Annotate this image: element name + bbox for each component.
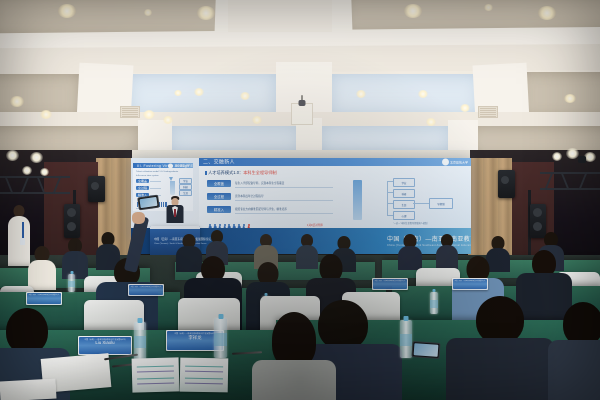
speaker-presenter <box>160 196 190 230</box>
ceiling-beam <box>138 120 172 152</box>
ceiling-coffer-lit <box>330 74 480 116</box>
stage-spotlight <box>30 152 43 163</box>
slide-chip: 全覆盖 <box>136 179 149 183</box>
attendee-foreground-long-hair <box>252 312 336 400</box>
placard-org: 中国（云南）—南亚东南亚教育合作发展国际论坛 <box>27 294 61 296</box>
attendee-foreground-far-right <box>548 302 600 400</box>
person-head <box>476 296 524 344</box>
recessed-downlight <box>10 96 24 107</box>
recessed-downlight <box>197 6 215 20</box>
ceiling-beam <box>329 0 353 46</box>
speaker-tie <box>174 209 176 217</box>
flow-side-arrow <box>353 180 362 220</box>
person-suit <box>446 338 554 400</box>
slide-figure-caption: 1对1结对导师 <box>307 223 323 227</box>
person-body <box>8 216 30 266</box>
attendee <box>62 238 88 278</box>
slide-note-line2: full-course tutor system <box>136 175 159 177</box>
badge <box>20 238 25 245</box>
slide-chip: 全过程 <box>136 186 149 190</box>
slide-header-bar: III. Fostering Virtue through Education … <box>133 163 193 168</box>
placard-face: 中国（云南）—南亚东南亚教育合作发展国际论坛 Liu Xiaolu <box>79 337 131 354</box>
spotlight-housing <box>578 156 586 163</box>
recessed-downlight <box>418 90 428 98</box>
ceiling-coffer <box>470 126 600 152</box>
ceiling-coffer-lit <box>320 126 450 152</box>
slide-chip-1-label: 全覆盖 <box>207 180 231 187</box>
flow-node-5: 导师制 <box>429 198 453 209</box>
name-placard-far: 中国（云南）—南亚东南亚教育合作发展国际论坛 <box>26 292 62 305</box>
recessed-downlight <box>144 9 152 16</box>
flow-node-3: 生涯 <box>393 200 415 209</box>
ceiling-beam <box>448 120 478 152</box>
placard-name: Liu Xiaolu <box>79 340 131 345</box>
stage-spotlight <box>40 168 49 176</box>
air-vent <box>120 106 140 118</box>
name-placard-far: 中国（云南）—南亚东南亚教育合作发展国际论坛 <box>452 278 488 290</box>
hand <box>132 212 145 224</box>
recessed-downlight <box>564 94 576 103</box>
ceiling-projector <box>291 103 313 125</box>
university-logo-main: 北京建筑大学 <box>442 159 468 166</box>
placard-org: 中国（云南）—南亚东南亚教育合作发展国际论坛 <box>129 286 163 288</box>
conference-hall-photo: III. Fostering Virtue through Education … <box>0 0 600 400</box>
recessed-downlight <box>58 4 76 18</box>
recessed-downlight <box>252 116 262 124</box>
university-seal-icon <box>442 159 449 166</box>
slide-chip-3-text: 按照专业方向精准匹配导师与学生，精准培养 <box>235 207 287 211</box>
slide-title-main: 人才培养模式1.0： <box>208 170 243 175</box>
ceiling <box>0 0 600 152</box>
slide-chip-3-label: 精准入 <box>207 206 231 213</box>
university-name: 北京建筑大学 <box>450 160 468 164</box>
stage-spotlight <box>552 152 562 161</box>
recessed-downlight <box>356 90 366 98</box>
stage-spotlight <box>6 150 19 161</box>
booklet-open <box>132 358 228 392</box>
water-bottle-front-right <box>400 320 412 358</box>
lanyard <box>22 222 24 238</box>
recessed-downlight <box>240 92 250 100</box>
slide-chip-1-text: 每生入学即配备导师，实现本科生全程覆盖 <box>235 181 284 185</box>
pa-speaker-right-upper <box>498 170 515 198</box>
water-bottle <box>68 274 75 292</box>
recessed-downlight <box>460 104 470 112</box>
name-placard-far: 中国（云南）—南亚东南亚教育合作发展国际论坛 <box>372 278 408 290</box>
pa-speaker-left-upper <box>88 176 105 202</box>
recessed-downlight <box>426 118 436 126</box>
slide-section-label-main: 二、交融新人 <box>203 159 235 166</box>
smartphone-on-table <box>411 341 440 359</box>
water-bottle-front-center <box>214 318 227 358</box>
recessed-downlight <box>538 6 556 20</box>
slide-note-line1: Talent cultivation model 1.0: Undergradu… <box>136 171 178 173</box>
lighting-truss-left <box>0 176 70 194</box>
podium-top <box>150 226 200 229</box>
booklet-page-right <box>180 358 229 393</box>
recessed-downlight <box>174 90 182 96</box>
university-name: 北京建筑大学 <box>174 164 190 168</box>
slide-chip-group-main: 全覆盖 每生入学即配备导师，实现本科生全程覆盖 全过程 贯穿本科四年全过程指导 … <box>207 180 337 220</box>
flow-caption: “一对一”本科生全程导师制育人机制 <box>393 221 427 225</box>
attendee-foreground-right <box>446 296 554 400</box>
flow-node-4: 心理 <box>393 211 415 220</box>
slide-flow-diagram: 学业 科研 生涯 心理 导师制 “一对一”本科生全程导师制育人机制 <box>349 178 465 224</box>
slide-header-bar-main: 二、交融新人 北京建筑大学 <box>199 158 471 166</box>
recessed-downlight <box>194 88 204 96</box>
slide-pen-graphic <box>170 181 175 195</box>
slide-title: 人才培养模式1.0：本科生全程导师制 <box>205 170 277 176</box>
projector-lens <box>299 100 306 106</box>
ceiling-coffer-lit <box>170 126 300 152</box>
booklet-page-left <box>132 357 180 392</box>
placard-org: 中国（云南）—南亚东南亚教育合作发展国际论坛 <box>453 280 487 282</box>
placard-org: 中国（云南）—南亚东南亚教育合作发展国际论坛 <box>373 280 407 282</box>
slide-title-accent: 本科生全程导师制 <box>243 170 277 175</box>
recessed-downlight <box>163 116 173 124</box>
recessed-downlight <box>404 4 422 18</box>
staff-attendant <box>8 205 30 265</box>
person-body <box>252 360 336 400</box>
flow-node-1: 学业 <box>393 178 415 187</box>
slide-chip-2-text: 贯穿本科四年全过程指导 <box>235 194 264 198</box>
name-placard-far: 中国（云南）—南亚东南亚教育合作发展国际论坛 <box>128 284 164 296</box>
lighting-truss-right <box>540 172 600 190</box>
pa-speaker-left-lower <box>64 204 80 238</box>
recessed-downlight <box>143 110 155 119</box>
ceiling-panel <box>228 0 332 32</box>
water-bottle <box>430 292 438 314</box>
flow-node-2: 科研 <box>393 189 415 198</box>
ceiling-coffer <box>0 126 140 152</box>
university-logo: 北京建筑大学 <box>168 163 190 168</box>
recessed-downlight <box>484 4 493 11</box>
university-seal-icon <box>168 163 173 168</box>
attendee <box>398 234 422 268</box>
recessed-downlight <box>40 110 52 119</box>
slide-chip-2-label: 全过程 <box>207 193 231 200</box>
attendee <box>28 246 56 288</box>
name-placard-liu-xiaolu: 中国（云南）—南亚东南亚教育合作发展国际论坛 Liu Xiaolu <box>78 336 132 355</box>
paper-stack <box>0 379 56 400</box>
air-vent <box>478 106 498 118</box>
stage-spotlight <box>22 166 32 175</box>
